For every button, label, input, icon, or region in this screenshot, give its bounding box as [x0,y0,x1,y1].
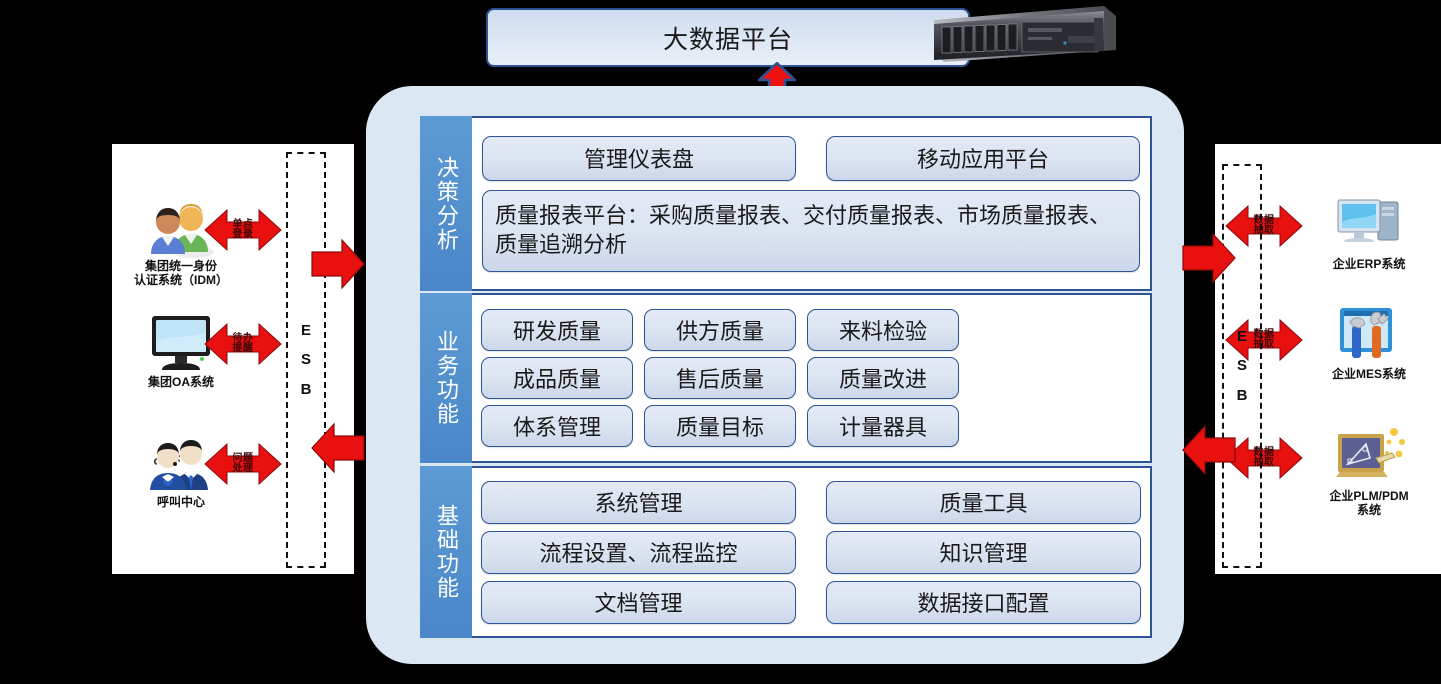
section-label-decision: 决策分析 [420,116,472,291]
section-body-base: 系统管理 质量工具 流程设置、流程监控 知识管理 文档管理 数据接口配置 [472,468,1150,636]
section-label-base: 基础功能 [420,466,472,638]
pill-document-management[interactable]: 文档管理 [481,581,796,624]
arrow-caption-todo: 待办提醒 [203,316,283,372]
pill-knowledge-management[interactable]: 知识管理 [826,531,1141,574]
esb-right: ESB [1222,164,1262,568]
blackboard-drawing-icon [1332,426,1406,488]
node-plm-pdm: 企业PLM/PDM系统 [1310,426,1428,518]
section-body-decision: 管理仪表盘 移动应用平台 质量报表平台：采购质量报表、交付质量报表、市场质量报表… [472,118,1150,289]
base-row-2: 流程设置、流程监控 知识管理 [481,531,1141,574]
pill-system-management[interactable]: 系统管理 [481,481,796,524]
business-row-3: 体系管理 质量目标 计量器具 [481,405,1141,447]
pill-supplier-quality[interactable]: 供方质量 [644,309,796,351]
arrow-caption-sso: 单点登录 [203,202,283,258]
node-erp: 企业ERP系统 [1310,194,1428,272]
esb-right-letters: ESB [1224,322,1260,410]
pill-system-management-qms[interactable]: 体系管理 [481,405,633,447]
arrow-sso: 单点登录 [203,202,283,258]
tools-window-icon [1332,304,1406,366]
diagram-canvas: 大数据平台 [0,0,1441,684]
big-data-platform-banner: 大数据平台 [486,8,970,67]
esb-left-arrow-right [310,238,366,290]
business-row-1: 研发质量 供方质量 来料检验 [481,309,1141,351]
node-label-mes: 企业MES系统 [1310,368,1428,382]
pill-process-setup-monitoring[interactable]: 流程设置、流程监控 [481,531,796,574]
rack-server-photo [928,2,1116,64]
pill-quality-tools[interactable]: 质量工具 [826,481,1141,524]
pill-quality-improvement[interactable]: 质量改进 [807,357,959,399]
pill-finished-product-quality[interactable]: 成品质量 [481,357,633,399]
esb-right-arrow-left [1181,424,1237,476]
pill-rd-quality[interactable]: 研发质量 [481,309,633,351]
base-row-3: 文档管理 数据接口配置 [481,581,1141,624]
node-label-idm: 集团统一身份认证系统（IDM） [122,260,240,288]
desktop-computer-icon [1332,194,1406,256]
arrow-issue-handling: 问题处理 [203,436,283,492]
business-row-2: 成品质量 售后质量 质量改进 [481,357,1141,399]
esb-left: ESB [286,152,326,568]
node-mes: 企业MES系统 [1310,304,1428,382]
section-decision-analysis: 决策分析 管理仪表盘 移动应用平台 质量报表平台：采购质量报表、交付质量报表、市… [420,116,1152,291]
esb-left-letters: ESB [288,316,324,404]
section-label-business: 业务功能 [420,293,472,463]
section-body-business: 研发质量 供方质量 来料检验 成品质量 售后质量 质量改进 体系管理 质量目标 … [472,295,1150,461]
pill-mobile-app-platform[interactable]: 移动应用平台 [826,136,1140,181]
pill-management-dashboard[interactable]: 管理仪表盘 [482,136,796,181]
arrow-caption-issue: 问题处理 [203,436,283,492]
pill-after-sales-quality[interactable]: 售后质量 [644,357,796,399]
decision-row-1: 管理仪表盘 移动应用平台 [482,136,1140,181]
platform-container: 决策分析 管理仪表盘 移动应用平台 质量报表平台：采购质量报表、交付质量报表、市… [366,86,1184,664]
node-label-call-center: 呼叫中心 [122,496,240,510]
pill-measuring-instruments[interactable]: 计量器具 [807,405,959,447]
pill-quality-report-platform[interactable]: 质量报表平台：采购质量报表、交付质量报表、市场质量报表、质量追溯分析 [482,190,1140,272]
section-base-functions: 基础功能 系统管理 质量工具 流程设置、流程监控 知识管理 文档管理 数据接口配… [420,466,1152,638]
node-label-plm-pdm: 企业PLM/PDM系统 [1310,490,1428,518]
esb-left-arrow-left [310,422,366,474]
esb-right-arrow-right [1181,232,1237,284]
pill-quality-objectives[interactable]: 质量目标 [644,405,796,447]
section-business-functions: 业务功能 研发质量 供方质量 来料检验 成品质量 售后质量 质量改进 体系管理 … [420,293,1152,463]
node-label-oa: 集团OA系统 [122,376,240,390]
pill-incoming-inspection[interactable]: 来料检验 [807,309,959,351]
node-label-erp: 企业ERP系统 [1310,258,1428,272]
base-row-1: 系统管理 质量工具 [481,481,1141,524]
pill-data-interface-config[interactable]: 数据接口配置 [826,581,1141,624]
arrow-todo-reminder: 待办提醒 [203,316,283,372]
big-data-platform-title: 大数据平台 [663,20,793,56]
